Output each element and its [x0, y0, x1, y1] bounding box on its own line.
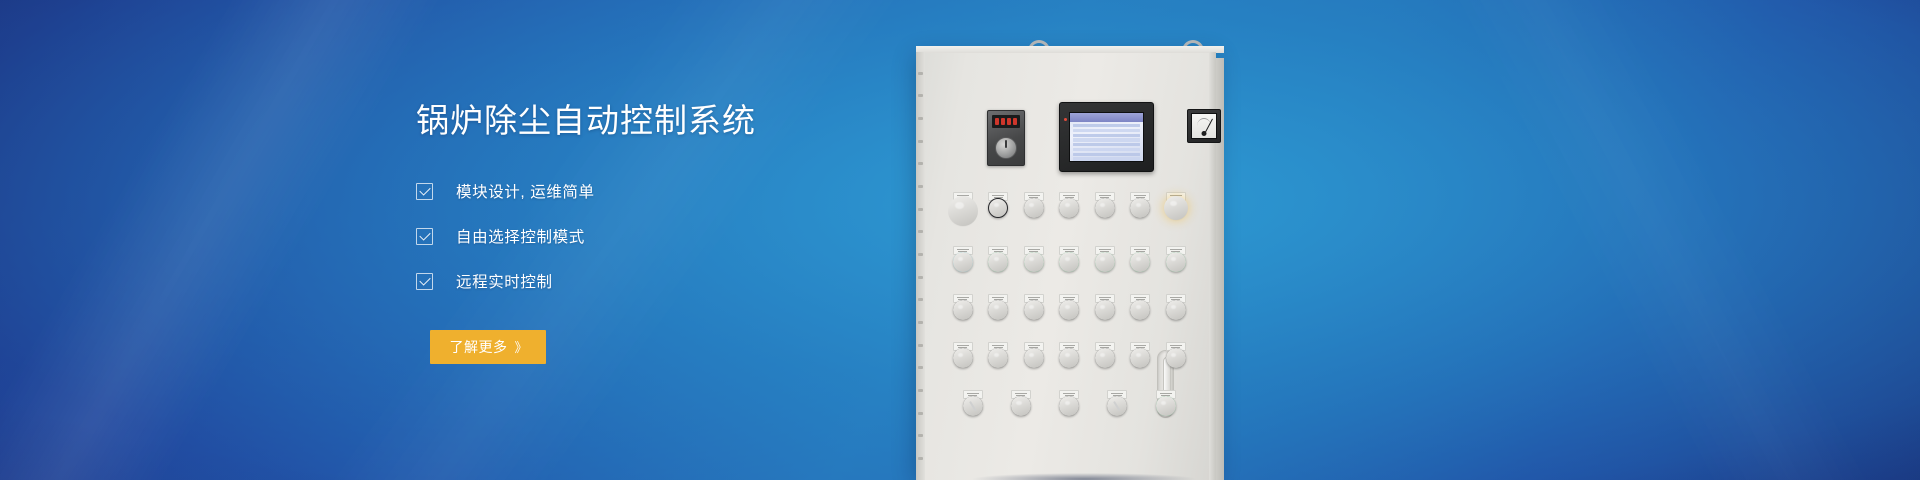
button-cell[interactable] [1022, 192, 1045, 224]
vfd-keypad[interactable] [987, 110, 1025, 166]
checkbox-check-icon [416, 273, 433, 290]
feature-label: 模块设计, 运维简单 [456, 180, 595, 202]
red-indicator-lamp[interactable] [1095, 198, 1115, 218]
analog-meter [1187, 109, 1221, 143]
page-title: 锅炉除尘自动控制系统 [416, 100, 886, 142]
green-start-button[interactable] [1095, 300, 1115, 320]
green-start-button[interactable] [1166, 300, 1186, 320]
red-indicator-lamp[interactable] [1024, 198, 1044, 218]
button-cell[interactable] [1129, 192, 1152, 224]
checkbox-check-icon [416, 183, 433, 200]
hmi-screen-table [1070, 122, 1143, 162]
button-cell[interactable] [1009, 390, 1032, 416]
red-stop-button[interactable] [1166, 348, 1186, 368]
red-indicator-lamp[interactable] [1059, 198, 1079, 218]
button-cell[interactable] [1022, 342, 1045, 368]
red-stop-button[interactable] [1059, 348, 1079, 368]
button-row-emergency [951, 192, 1187, 224]
cabinet-hinge-column [916, 52, 925, 480]
double-chevron-right-icon: 》 [514, 337, 526, 356]
red-stop-button[interactable] [1024, 348, 1044, 368]
button-cell[interactable] [1093, 192, 1116, 224]
button-row-red-stop [951, 342, 1187, 368]
button-cell[interactable] [1093, 342, 1116, 368]
button-cell[interactable] [951, 246, 974, 272]
button-cell[interactable] [1164, 192, 1187, 224]
red-stop-button[interactable] [953, 348, 973, 368]
hmi-screen-surface[interactable] [1069, 112, 1144, 162]
list-item: 远程实时控制 [416, 265, 886, 298]
meter-face [1191, 113, 1217, 139]
green-start-button[interactable] [988, 300, 1008, 320]
white-pilot-lamp[interactable] [1156, 396, 1176, 416]
selector-switch[interactable] [963, 396, 983, 416]
button-cell[interactable] [1022, 294, 1045, 320]
hero-copy: 锅炉除尘自动控制系统 模块设计, 运维简单 自由选择控制模式 远程实时控制 了解… [416, 100, 886, 364]
button-cell[interactable] [1164, 246, 1187, 272]
cabinet-shadow [928, 472, 1240, 480]
green-start-button[interactable] [1059, 300, 1079, 320]
control-cabinet [916, 52, 1216, 480]
red-stop-button[interactable] [1095, 348, 1115, 368]
button-cell[interactable] [987, 294, 1010, 320]
selector-switch[interactable] [1107, 396, 1127, 416]
white-pilot-lamp[interactable] [988, 252, 1008, 272]
button-cell[interactable] [1129, 294, 1152, 320]
feature-list: 模块设计, 运维简单 自由选择控制模式 远程实时控制 [416, 175, 886, 298]
list-item: 自由选择控制模式 [416, 220, 886, 253]
button-cell[interactable] [1164, 294, 1187, 320]
vfd-rotary-knob[interactable] [995, 137, 1017, 159]
white-pilot-lamp[interactable] [1024, 252, 1044, 272]
amber-indicator-lamp[interactable] [1166, 198, 1186, 218]
button-cell[interactable] [951, 192, 974, 224]
control-cabinet-photo [900, 0, 1920, 480]
button-cell[interactable] [987, 246, 1010, 272]
button-cell[interactable] [1093, 246, 1116, 272]
hmi-touchscreen[interactable] [1059, 102, 1154, 172]
button-cell[interactable] [951, 342, 974, 368]
meter-hub [1202, 131, 1207, 136]
vfd-digital-display [992, 115, 1020, 128]
green-start-button[interactable] [953, 300, 973, 320]
button-row-white-pilots [951, 246, 1187, 272]
white-pilot-lamp[interactable] [1166, 252, 1186, 272]
button-cell[interactable] [1058, 294, 1081, 320]
red-indicator-lamp[interactable] [1130, 198, 1150, 218]
feature-label: 自由选择控制模式 [456, 225, 585, 247]
button-cell[interactable] [1058, 246, 1081, 272]
hmi-screen-titlebar [1070, 113, 1143, 122]
white-pilot-lamp[interactable] [1059, 252, 1079, 272]
red-stop-button[interactable] [1059, 396, 1079, 416]
button-cell[interactable] [987, 342, 1010, 368]
learn-more-button[interactable]: 了解更多 》 [430, 330, 546, 364]
button-cell[interactable] [1093, 294, 1116, 320]
emergency-stop-button[interactable] [950, 198, 976, 224]
white-pilot-lamp[interactable] [1130, 252, 1150, 272]
hmi-power-led-icon [1064, 118, 1067, 121]
button-cell[interactable] [1022, 246, 1045, 272]
button-cell[interactable] [1154, 390, 1177, 416]
cabinet-door-face [925, 52, 1209, 480]
button-cell[interactable] [951, 294, 974, 320]
green-indicator-lamp[interactable] [1011, 396, 1031, 416]
green-start-button[interactable] [1130, 300, 1150, 320]
button-cell[interactable] [1058, 390, 1081, 416]
button-grid [951, 192, 1187, 416]
button-cell[interactable] [1106, 390, 1129, 416]
red-stop-button[interactable] [988, 348, 1008, 368]
white-pilot-lamp[interactable] [953, 252, 973, 272]
white-pilot-lamp[interactable] [1095, 252, 1115, 272]
checkbox-check-icon [416, 228, 433, 245]
button-row-green-start [951, 294, 1187, 320]
button-row-selectors [951, 390, 1187, 416]
green-start-button[interactable] [1024, 300, 1044, 320]
button-cell[interactable] [987, 192, 1010, 224]
hero-banner: 锅炉除尘自动控制系统 模块设计, 运维简单 自由选择控制模式 远程实时控制 了解… [0, 0, 1920, 480]
mushroom-button[interactable] [988, 198, 1008, 218]
list-item: 模块设计, 运维简单 [416, 175, 886, 208]
feature-label: 远程实时控制 [456, 270, 553, 292]
button-cell[interactable] [1058, 342, 1081, 368]
learn-more-label: 了解更多 [449, 337, 507, 357]
red-stop-button[interactable] [1130, 348, 1150, 368]
button-cell[interactable] [1129, 246, 1152, 272]
button-cell[interactable] [961, 390, 984, 416]
button-cell[interactable] [1164, 342, 1187, 368]
button-cell[interactable] [1129, 342, 1152, 368]
button-cell[interactable] [1058, 192, 1081, 224]
